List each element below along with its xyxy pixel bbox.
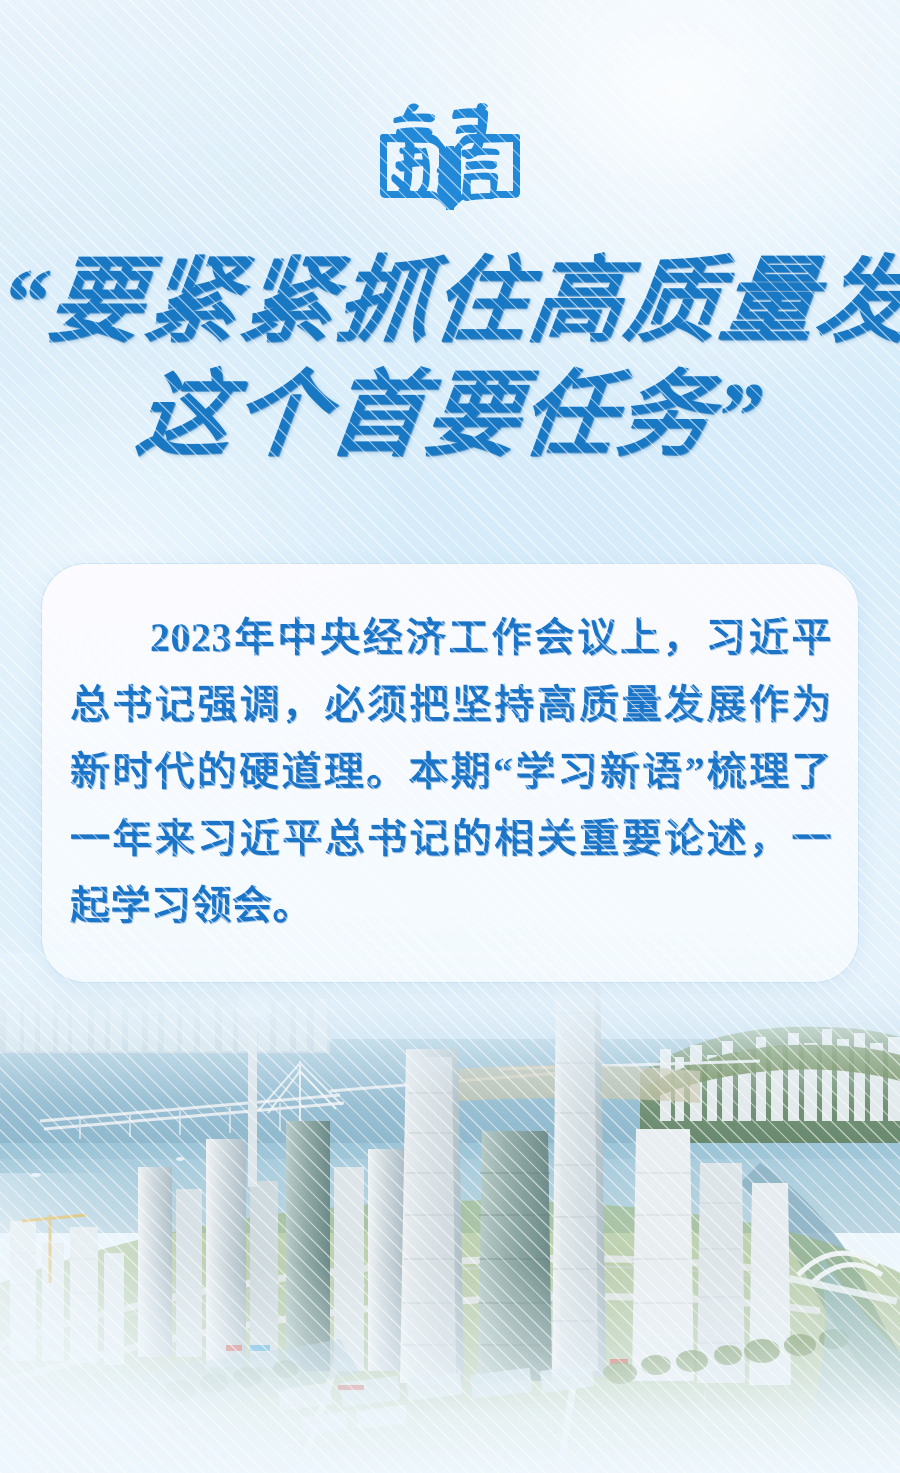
headline: “要紧紧抓住高质量发展 这个首要任务” — [0, 244, 900, 472]
cityscape-photo — [0, 953, 900, 1473]
poster-root: 学习新语 — [0, 0, 900, 1473]
brand-logo: 学习新语 — [0, 96, 900, 220]
headline-line-2: 这个首要任务” — [0, 360, 900, 472]
headline-line-1: “要紧紧抓住高质量发展 — [0, 244, 900, 360]
cityscape-illustration — [0, 953, 900, 1473]
body-paragraph: 2023年中央经济工作会议上，习近平总书记强调，必须把坚持高质量发展作为新时代的… — [70, 604, 832, 939]
